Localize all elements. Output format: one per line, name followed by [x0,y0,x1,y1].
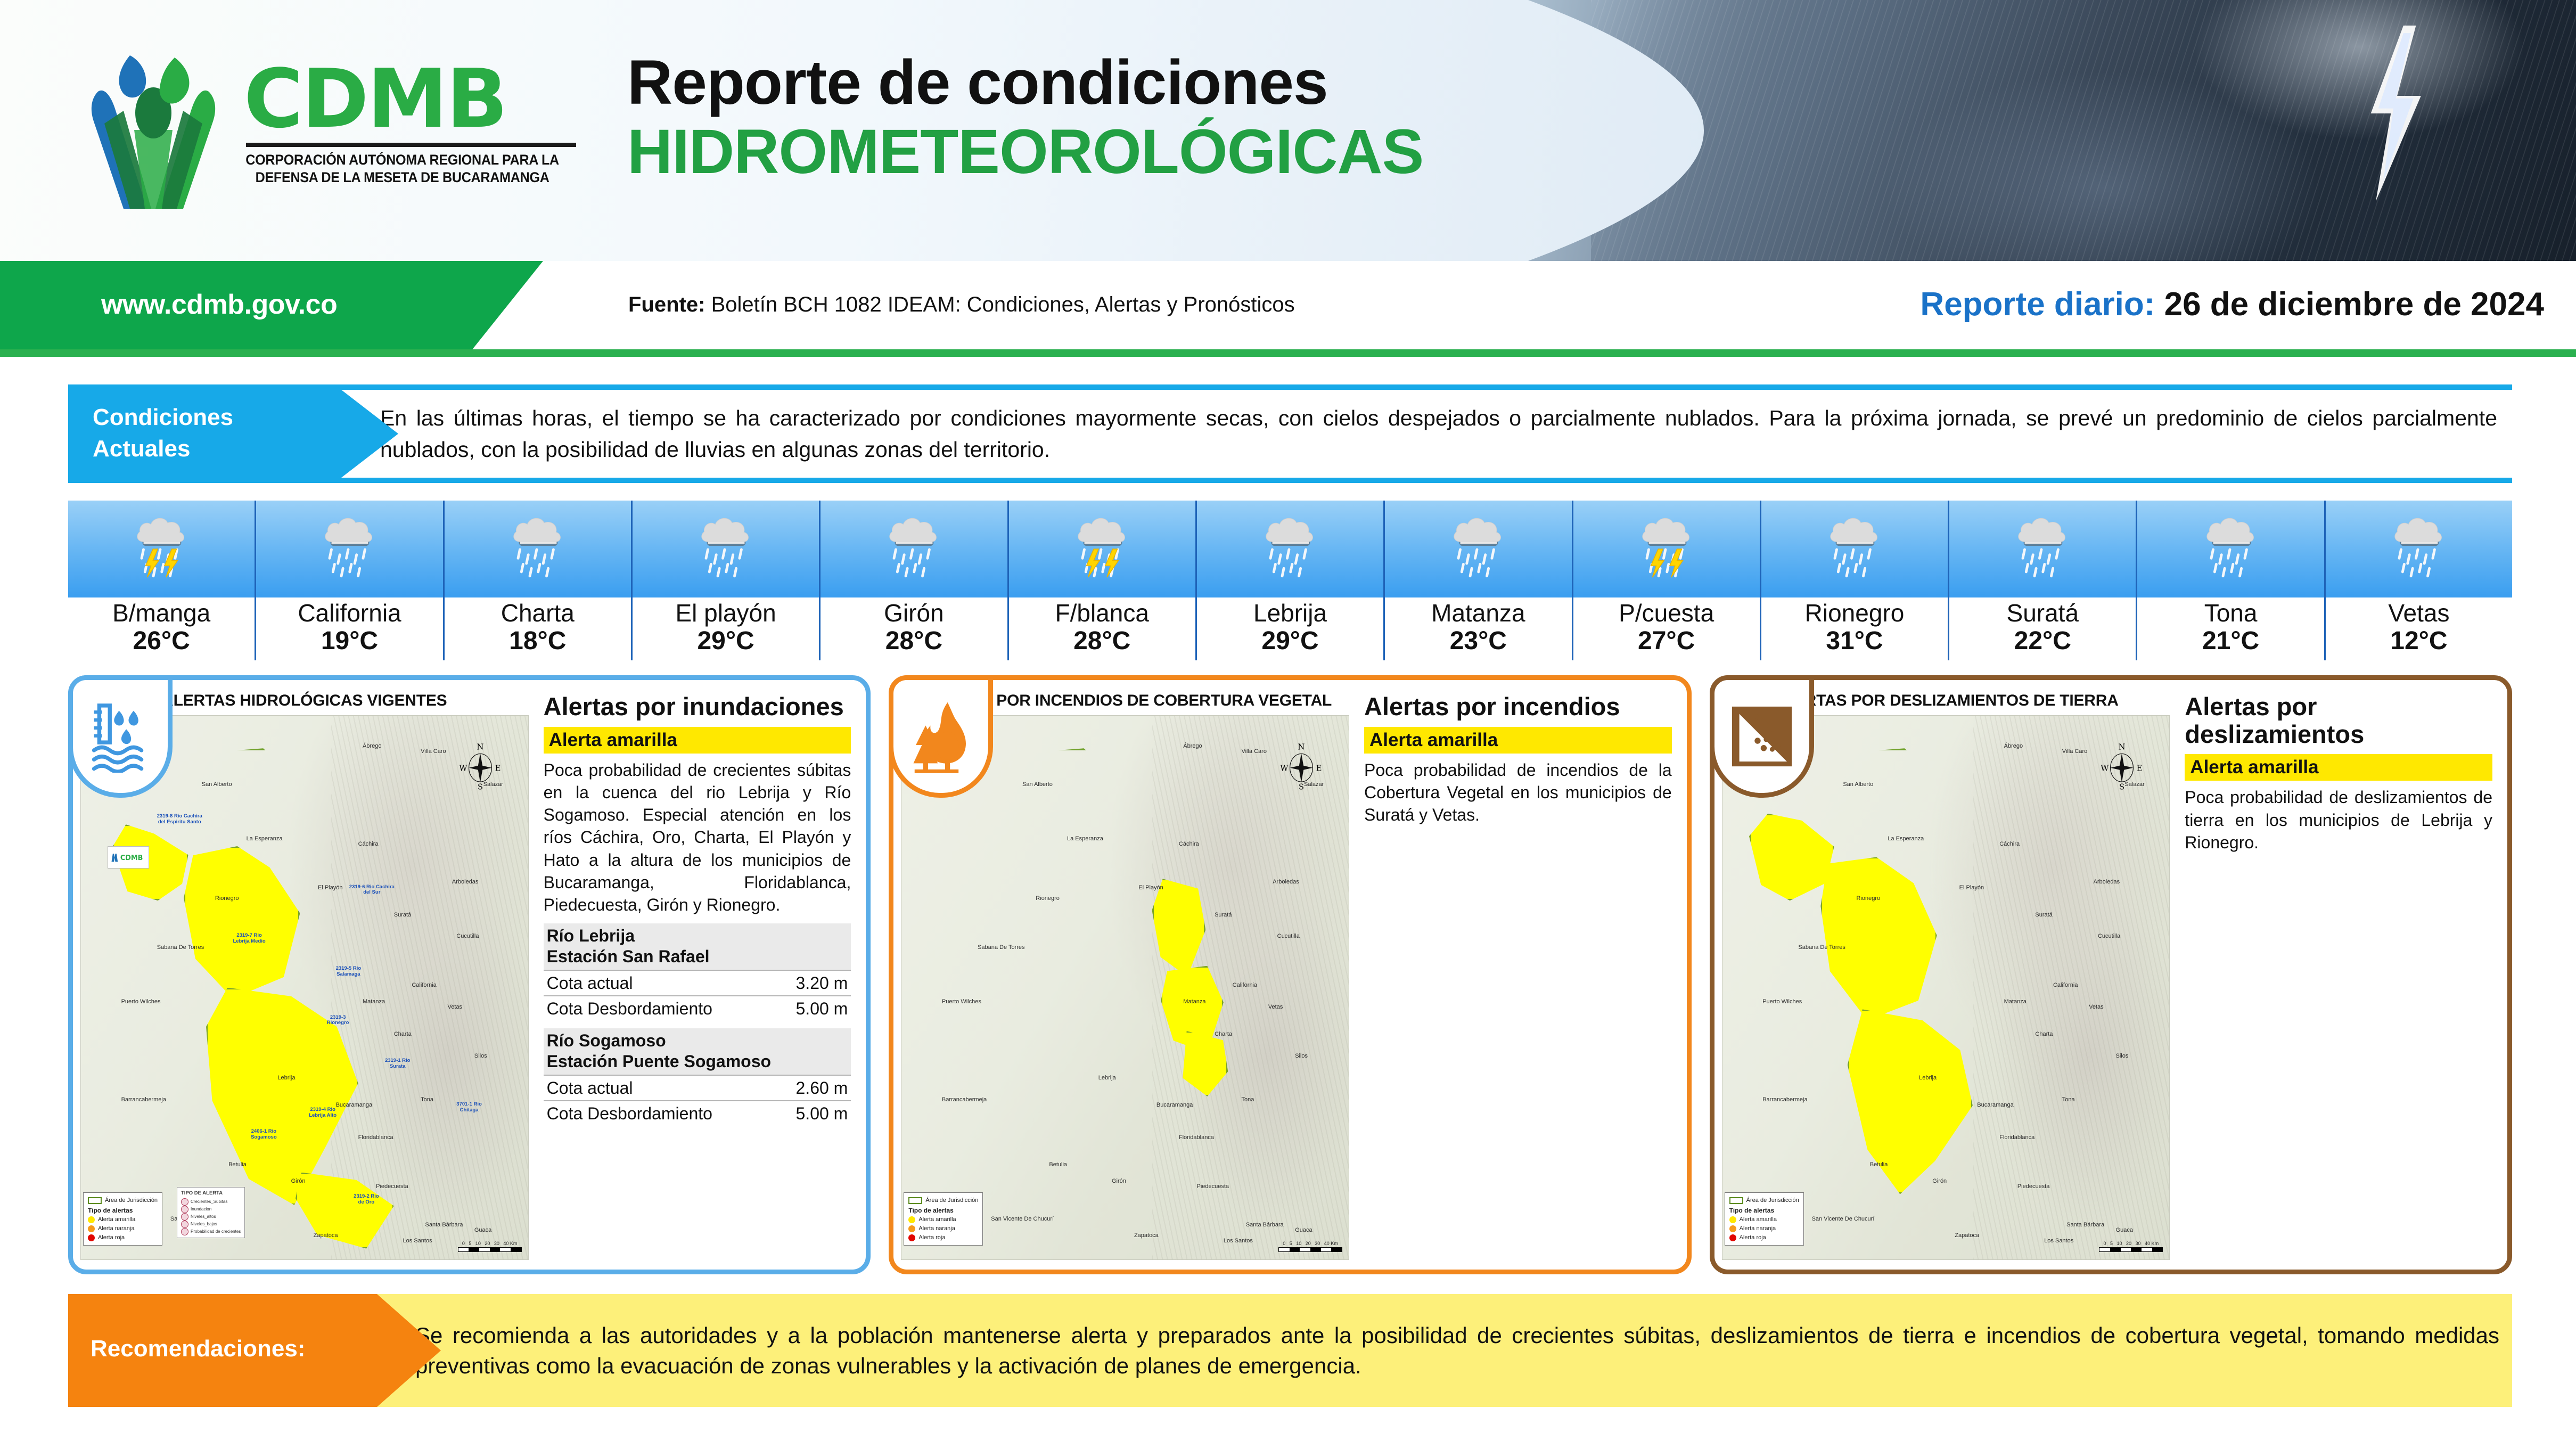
alert-panel-slide: ALERTAS POR DESLIZAMIENTOS DE TIERRA San… [1710,675,2512,1274]
station-name: Estación San Rafael [547,946,848,967]
landslide-icon [1728,703,1795,770]
cdmb-logo-mark-icon [68,47,239,217]
legend-types-title: Tipo de alertas [88,1206,158,1215]
map-place-label: Villa Caro [2062,748,2088,755]
thunderstorm-icon [130,511,193,587]
panel-side: Alertas por inundaciones Alerta amarilla… [534,687,859,1262]
compass-rose: N S E W [460,743,501,791]
legend-jurisdiction-row: Área de Jurisdicción [1729,1197,1799,1205]
map-basin-label: 2319-5 RioSalamaga [336,966,362,978]
station-measurement-row: Cota actual 3.20 m [544,970,851,995]
legend-red-label: Alerta roja [1740,1234,1766,1242]
logo-subtitle-line2: DEFENSA DE LA MESETA DE BUCARAMANGA [244,169,561,186]
map-place-label: Bucaramanga [336,1102,373,1108]
alert-type-legend: TIPO DE ALERTACrecientes_SúbitasInundaci… [177,1187,245,1238]
alert-type-label: Crecientes_Súbitas [191,1199,227,1205]
map-place-label: Charta [2035,1031,2053,1037]
svg-text:E: E [1316,764,1322,773]
weather-label-box: El playón 29°C [633,597,819,660]
weather-icon-box [633,501,819,597]
map-place-label: Girón [1932,1178,1947,1184]
alert-type-legend-title: TIPO DE ALERTA [181,1190,241,1197]
weather-station-b-manga: B/manga 26°C [68,501,255,660]
map-place-label: San Alberto [202,781,232,788]
map-canvas[interactable]: San MartínSan AlbertoÁbregoVilla CaroSal… [901,715,1349,1260]
map-canvas[interactable]: San MartínSan AlbertoÁbregoVilla CaroSal… [1722,715,2170,1260]
map-place-label: Barrancabermeja [942,1096,987,1103]
panel-side: Alertas por deslizamientos Alerta amaril… [2175,687,2500,1262]
map-place-label: Piedecuesta [2017,1183,2050,1190]
alert-panel-fire: ALERTAS POR INCENDIOS DE COBERTURA VEGET… [889,675,1691,1274]
weather-city-name: Vetas [2326,600,2512,627]
alert-type-icon [181,1206,188,1213]
website-url[interactable]: www.cdmb.gov.co [101,289,337,321]
compass-rose: N S E W [2101,743,2143,791]
legend-jurisdiction-row: Área de Jurisdicción [88,1197,158,1205]
map-scale: 0 5 10 20 30 40 Km [458,1241,522,1252]
weather-label-box: Vetas 12°C [2326,597,2512,660]
map-place-label: Bucaramanga [1977,1102,2014,1108]
map-place-label: Sabana De Torres [1798,944,1845,951]
svg-text:W: W [1281,764,1288,773]
map-place-label: Vetas [2089,1004,2104,1010]
map-place-label: Silos [2116,1053,2129,1059]
weather-city-name: F/blanca [1009,600,1195,627]
map-place-label: Rionegro [215,895,239,902]
rain-cloud-icon [2388,511,2450,587]
station-name: Estación Puente Sogamoso [547,1051,848,1071]
current-conditions-body: En las últimas horas, el tiempo se ha ca… [334,384,2512,483]
measurement-label: Cota actual [547,973,633,993]
river-name: Río Lebrija [547,926,848,946]
map-scale-ticks: 0 5 10 20 30 40 Km [1278,1241,1342,1246]
map-place-label: California [412,982,436,988]
weather-icon-box [1197,501,1383,597]
map-basin-label: 2319-6 Rio Cachiradel Sur [349,885,395,896]
map-place-label: Vetas [1268,1004,1283,1010]
map-place-label: Girón [1112,1178,1126,1184]
weather-icon-box [1009,501,1195,597]
map-place-label: Silos [1295,1053,1308,1059]
weather-label-box: Rionegro 31°C [1761,597,1948,660]
weather-city-name: Girón [821,600,1007,627]
current-conditions-tag: Condiciones Actuales [68,384,398,483]
map-place-label: Floridablanca [1999,1134,2034,1141]
weather-label-box: Charta 18°C [445,597,631,660]
map-place-label: El Playón [1138,885,1163,891]
weather-station-charta: Charta 18°C [443,501,631,660]
map-place-label: Betulia [1870,1161,1888,1168]
map-place-label: Cáchira [1999,841,2020,847]
map-place-label: Villa Caro [421,748,446,755]
station-measurement-row: Cota Desbordamiento 5.00 m [544,1100,851,1126]
svg-text:W: W [460,764,467,773]
map-place-label: Santa Bárbara [1246,1222,1284,1228]
weather-label-box: California 19°C [256,597,442,660]
alert-type-legend-row: Crecientes_Súbitas [181,1198,241,1206]
weather-station-tona: Tona 21°C [2136,501,2324,660]
map-place-label: San Vicente De Chucurí [1812,1216,1875,1222]
map-scale-bar-icon [458,1247,522,1252]
map-place-label: California [2053,982,2078,988]
map-place-label: Matanza [1183,998,1205,1005]
legend-yellow-label: Alerta amarilla [1740,1216,1777,1224]
map-basin-label: 2406-1 RioSogamoso [251,1129,277,1141]
map-place-label: Tona [421,1096,433,1103]
weather-icon-box [1573,501,1760,597]
measurement-value: 3.20 m [796,973,848,993]
map-place-label: Floridablanca [1179,1134,1214,1141]
rain-cloud-icon [1447,511,1509,587]
alert-type-label: Probabilidad de crecientes [191,1229,241,1235]
legend-types-title: Tipo de alertas [1729,1206,1799,1215]
map-place-label: Cáchira [358,841,379,847]
rain-cloud-icon [2200,511,2262,587]
map-place-label: Ábrego [2004,743,2023,749]
legend-orange-row: Alerta naranja [1729,1225,1799,1233]
map-legend: Área de Jurisdicción Tipo de alertas Ale… [904,1192,983,1246]
legend-yellow-row: Alerta amarilla [88,1216,158,1224]
legend-red-label: Alerta roja [918,1234,945,1242]
weather-station-surat-: Suratá 22°C [1948,501,2136,660]
weather-city-name: P/cuesta [1573,600,1760,627]
yellow-alert-dot-icon [1729,1216,1736,1223]
map-place-label: Arboledas [2094,879,2120,885]
svg-text:E: E [2137,764,2143,773]
panel-description: Poca probabilidad de incendios de la Cob… [1364,759,1672,826]
orange-alert-dot-icon [88,1225,95,1232]
weather-icon-box [1949,501,2136,597]
panel-icon-badge [1710,675,1814,798]
rain-cloud-icon [882,511,945,587]
map-place-label: Puerto Wilches [942,998,981,1005]
weather-temperature: 29°C [633,627,819,656]
weather-temperature: 29°C [1197,627,1383,656]
map-basin-label: 2319-7 RioLebrija Medio [233,933,265,945]
weather-city-name: California [256,600,442,627]
map-place-label: Ábrego [363,743,381,749]
recommendations-section: Se recomienda a las autoridades y a la p… [68,1294,2512,1430]
panel-inner: ALERTAS POR INCENDIOS DE COBERTURA VEGET… [893,680,1686,1270]
weather-city-name: Matanza [1385,600,1571,627]
alert-type-icon [181,1221,188,1228]
map-place-label: Cucutilla [2098,933,2120,939]
svg-text:E: E [495,764,501,773]
legend-jurisdiction-label: Área de Jurisdicción [925,1197,978,1205]
map-place-label: Sabana De Torres [978,944,1024,951]
map-legend: Área de Jurisdicción Tipo de alertas Ale… [1725,1192,1804,1246]
map-basin-label: 2319-2 Riode Oro [354,1194,379,1206]
legend-yellow-label: Alerta amarilla [98,1216,135,1224]
legend-types-title: Tipo de alertas [908,1206,978,1215]
map-scale: 0 5 10 20 30 40 Km [2099,1241,2163,1252]
page-header: CDMB CORPORACIÓN AUTÓNOMA REGIONAL PARA … [0,0,2576,261]
map-place-label: Zapatoca [1955,1232,1979,1239]
panel-title: Alertas por inundaciones [544,693,851,721]
measurement-value: 5.00 m [796,999,848,1019]
map-cdmb-watermark: CDMB [108,846,149,869]
map-place-label: Suratá [2035,912,2052,918]
map-place-label: Girón [291,1178,306,1184]
alert-level-badge: Alerta amarilla [1364,727,1672,754]
weather-station-california: California 19°C [255,501,442,660]
map-place-label: San Alberto [1022,781,1053,788]
map-basin-label: 2319-4 RioLebrija Alto [309,1107,337,1119]
map-place-label: Tona [2062,1096,2075,1103]
weather-temperature: 18°C [445,627,631,656]
recommendations-tag-label: Recomendaciones: [91,1336,305,1362]
source-value: Boletín BCH 1082 IDEAM: Condiciones, Ale… [711,293,1295,316]
weather-city-name: Lebrija [1197,600,1383,627]
weather-strip: B/manga 26°C California 19°C Charta 18°C [68,501,2512,660]
map-place-label: Zapatoca [314,1232,338,1239]
weather-icon-box [821,501,1007,597]
logo-wordmark: CDMB [244,59,585,140]
recommendations-body: Se recomienda a las autoridades y a la p… [377,1294,2512,1407]
report-date-value: 26 de diciembre de 2024 [2164,286,2544,323]
map-place-label: Ábrego [1183,743,1202,749]
report-date-label: Reporte diario: [1920,286,2155,323]
compass-rose-icon: N S E W [2101,743,2143,791]
weather-station-rionegro: Rionegro 31°C [1760,501,1948,660]
map-place-label: California [1233,982,1257,988]
weather-station-lebrija: Lebrija 29°C [1195,501,1383,660]
map-place-label: Piedecuesta [1196,1183,1229,1190]
map-place-label: Lebrija [1919,1075,1937,1081]
map-place-label: Bucaramanga [1156,1102,1193,1108]
yellow-alert-dot-icon [88,1216,95,1223]
map-place-label: Suratá [394,912,411,918]
weather-city-name: Tona [2137,600,2324,627]
weather-temperature: 21°C [2137,627,2324,656]
weather-label-box: F/blanca 28°C [1009,597,1195,660]
water-level-gauge-icon [87,700,153,773]
legend-orange-label: Alerta naranja [1740,1225,1776,1233]
weather-city-name: El playón [633,600,819,627]
weather-temperature: 23°C [1385,627,1571,656]
source-bar-bottom-rule [0,349,2576,357]
map-place-label: El Playón [318,885,342,891]
map-place-label: La Esperanza [1067,836,1103,842]
map-legend: Área de Jurisdicción Tipo de alertas Ale… [83,1192,162,1246]
map-place-label: Betulia [228,1161,247,1168]
current-conditions-section: En las últimas horas, el tiempo se ha ca… [68,384,2512,483]
weather-station-f-blanca: F/blanca 28°C [1007,501,1195,660]
legend-red-row: Alerta roja [88,1234,158,1242]
map-place-label: Puerto Wilches [121,998,161,1005]
alert-level-badge: Alerta amarilla [2185,754,2492,781]
map-place-label: Piedecuesta [376,1183,408,1190]
map-place-label: Arboledas [452,879,479,885]
report-date-block: Reporte diario: 26 de diciembre de 2024 [1920,285,2544,323]
map-place-label: Tona [1241,1096,1254,1103]
page-title: Reporte de condiciones HIDROMETEOROLÓGIC… [627,49,1423,187]
weather-label-box: B/manga 26°C [68,597,255,660]
weather-city-name: Charta [445,600,631,627]
map-place-label: Lebrija [277,1075,295,1081]
compass-rose-icon: N S E W [1281,743,1322,791]
weather-station-el-play-n: El playón 29°C [631,501,819,660]
legend-orange-row: Alerta naranja [88,1225,158,1233]
weather-temperature: 28°C [1009,627,1195,656]
alert-type-legend-row: Probabilidad de crecientes [181,1228,241,1235]
map-basin-label: 2319-3Rionegro [327,1015,349,1027]
legend-jurisdiction-label: Área de Jurisdicción [105,1197,158,1205]
map-canvas[interactable]: San MartínSan AlbertoÁbregoVilla CaroSal… [80,715,529,1260]
legend-red-row: Alerta roja [1729,1234,1799,1242]
panel-icon-badge [889,675,993,798]
map-scale-ticks: 0 5 10 20 30 40 Km [2099,1241,2163,1246]
weather-temperature: 28°C [821,627,1007,656]
weather-city-name: Rionegro [1761,600,1948,627]
weather-station-gir-n: Girón 28°C [819,501,1007,660]
map-place-label: La Esperanza [1888,836,1924,842]
lightning-bolt-icon [2353,26,2433,201]
weather-icon-box [1385,501,1571,597]
panel-inner: ALERTAS POR DESLIZAMIENTOS DE TIERRA San… [1714,680,2507,1270]
alert-type-icon [181,1213,188,1221]
orange-alert-dot-icon [908,1225,915,1232]
forest-fire-icon [907,700,974,773]
rain-cloud-icon [1823,511,1886,587]
logo-subtitle-line1: CORPORACIÓN AUTÓNOMA REGIONAL PARA LA [244,151,561,169]
river-station-block: Río Sogamoso Estación Puente Sogamoso Co… [544,1028,851,1126]
legend-yellow-label: Alerta amarilla [918,1216,956,1224]
thunderstorm-icon [1071,511,1134,587]
map-place-label: Barrancabermeja [1762,1096,1807,1103]
map-place-label: Guaca [1295,1227,1312,1233]
svg-text:N: N [477,743,484,752]
measurement-value: 5.00 m [796,1104,848,1124]
legend-jurisdiction-row: Área de Jurisdicción [908,1197,978,1205]
weather-station-p-cuesta: P/cuesta 27°C [1572,501,1760,660]
recommendations-text: Se recomienda a las autoridades y a la p… [377,1320,2512,1381]
map-basin-label: 3701-1 RioChitaga [456,1102,482,1114]
legend-jurisdiction-label: Área de Jurisdicción [1746,1197,1799,1205]
weather-label-box: Tona 21°C [2137,597,2324,660]
recommendations-tag: Recomendaciones: [68,1294,441,1407]
map-place-label: Charta [1215,1031,1232,1037]
weather-icon-box [445,501,631,597]
source-label: Fuente: [628,293,705,316]
map-place-label: Los Santos [1224,1238,1253,1244]
weather-temperature: 26°C [68,627,255,656]
map-place-label: San Alberto [1843,781,1873,788]
alert-type-legend-row: Inundacion [181,1206,241,1213]
svg-text:W: W [2101,764,2109,773]
map-place-label: Santa Bárbara [2066,1222,2104,1228]
map-place-label: Villa Caro [1241,748,1267,755]
svg-text:S: S [1299,783,1304,791]
panel-title: Alertas por incendios [1364,693,1672,721]
alert-panel-flood: ALERTAS HIDROLÓGICAS VIGENTES San Martín… [68,675,871,1274]
alert-type-icon [181,1198,188,1206]
panel-description: Poca probabilidad de crecientes súbitas … [544,759,851,916]
map-place-label: Guaca [474,1227,491,1233]
weather-temperature: 27°C [1573,627,1760,656]
map-scale: 0 5 10 20 30 40 Km [1278,1241,1342,1252]
map-place-label: Rionegro [1036,895,1060,902]
map-basin-label: 2319-8 Rio Cachiradel Espiritu Santo [157,814,202,825]
map-place-label: Rionegro [1857,895,1881,902]
legend-yellow-row: Alerta amarilla [908,1216,978,1224]
map-place-label: Lebrija [1098,1075,1116,1081]
rain-cloud-icon [506,511,569,587]
station-measurement-row: Cota Desbordamiento 5.00 m [544,995,851,1021]
map-place-label: Sabana De Torres [157,944,204,951]
alert-type-icon [181,1228,188,1235]
measurement-value: 2.60 m [796,1078,848,1098]
map-place-label: Guaca [2116,1227,2133,1233]
compass-rose: N S E W [1281,743,1322,791]
thunderstorm-icon [1635,511,1698,587]
jurisdiction-swatch-icon [908,1197,922,1204]
svg-text:CDMB: CDMB [120,854,143,862]
rain-cloud-icon [1259,511,1322,587]
source-bar: www.cdmb.gov.co Fuente: Boletín BCH 1082… [0,261,2576,354]
weather-icon-box [2326,501,2512,597]
rain-cloud-icon [318,511,381,587]
map-place-label: Cáchira [1179,841,1199,847]
panel-description: Poca probabilidad de deslizamientos de t… [2185,786,2492,854]
rain-cloud-icon [694,511,757,587]
map-place-label: Los Santos [2044,1238,2073,1244]
yellow-alert-dot-icon [908,1216,915,1223]
measurement-label: Cota Desbordamiento [547,999,712,1019]
svg-text:S: S [2119,783,2124,791]
cdmb-logo: CDMB CORPORACIÓN AUTÓNOMA REGIONAL PARA … [68,47,617,217]
map-place-label: La Esperanza [247,836,283,842]
conditions-tag-line2: Actuales [93,433,233,464]
map-place-label: Santa Bárbara [425,1222,463,1228]
alert-type-label: Niveles_altos [191,1214,216,1220]
map-place-label: Suratá [1215,912,1232,918]
river-station-block: Río Lebrija Estación San Rafael Cota act… [544,923,851,1021]
map-scale-bar-icon [1278,1247,1342,1252]
weather-icon-box [2137,501,2324,597]
weather-station-matanza: Matanza 23°C [1383,501,1571,660]
map-place-label: Betulia [1049,1161,1067,1168]
map-place-label: Vetas [448,1004,463,1010]
alert-type-label: Inundacion [191,1206,211,1213]
weather-icon-box [68,501,255,597]
weather-temperature: 31°C [1761,627,1948,656]
weather-label-box: P/cuesta 27°C [1573,597,1760,660]
legend-orange-row: Alerta naranja [908,1225,978,1233]
svg-text:N: N [2119,743,2126,752]
river-station-header: Río Lebrija Estación San Rafael [544,923,851,970]
alert-type-legend-row: Niveles_altos [181,1213,241,1221]
jurisdiction-swatch-icon [1729,1197,1743,1204]
map-place-label: Cucutilla [1277,933,1300,939]
measurement-label: Cota Desbordamiento [547,1104,712,1124]
legend-orange-label: Alerta naranja [98,1225,135,1233]
map-place-label: Los Santos [403,1238,432,1244]
map-place-label: Puerto Wilches [1762,998,1802,1005]
svg-text:N: N [1298,743,1305,752]
conditions-tag-line1: Condiciones [93,402,233,433]
legend-yellow-row: Alerta amarilla [1729,1216,1799,1224]
map-place-label: El Playón [1959,885,1984,891]
source-attribution: Fuente: Boletín BCH 1082 IDEAM: Condicio… [628,293,1295,317]
jurisdiction-swatch-icon [88,1197,102,1204]
alert-type-label: Niveles_bajos [191,1221,217,1227]
map-scale-ticks: 0 5 10 20 30 40 Km [458,1241,522,1246]
weather-temperature: 19°C [256,627,442,656]
weather-label-box: Lebrija 29°C [1197,597,1383,660]
weather-city-name: Suratá [1949,600,2136,627]
river-station-header: Río Sogamoso Estación Puente Sogamoso [544,1028,851,1075]
